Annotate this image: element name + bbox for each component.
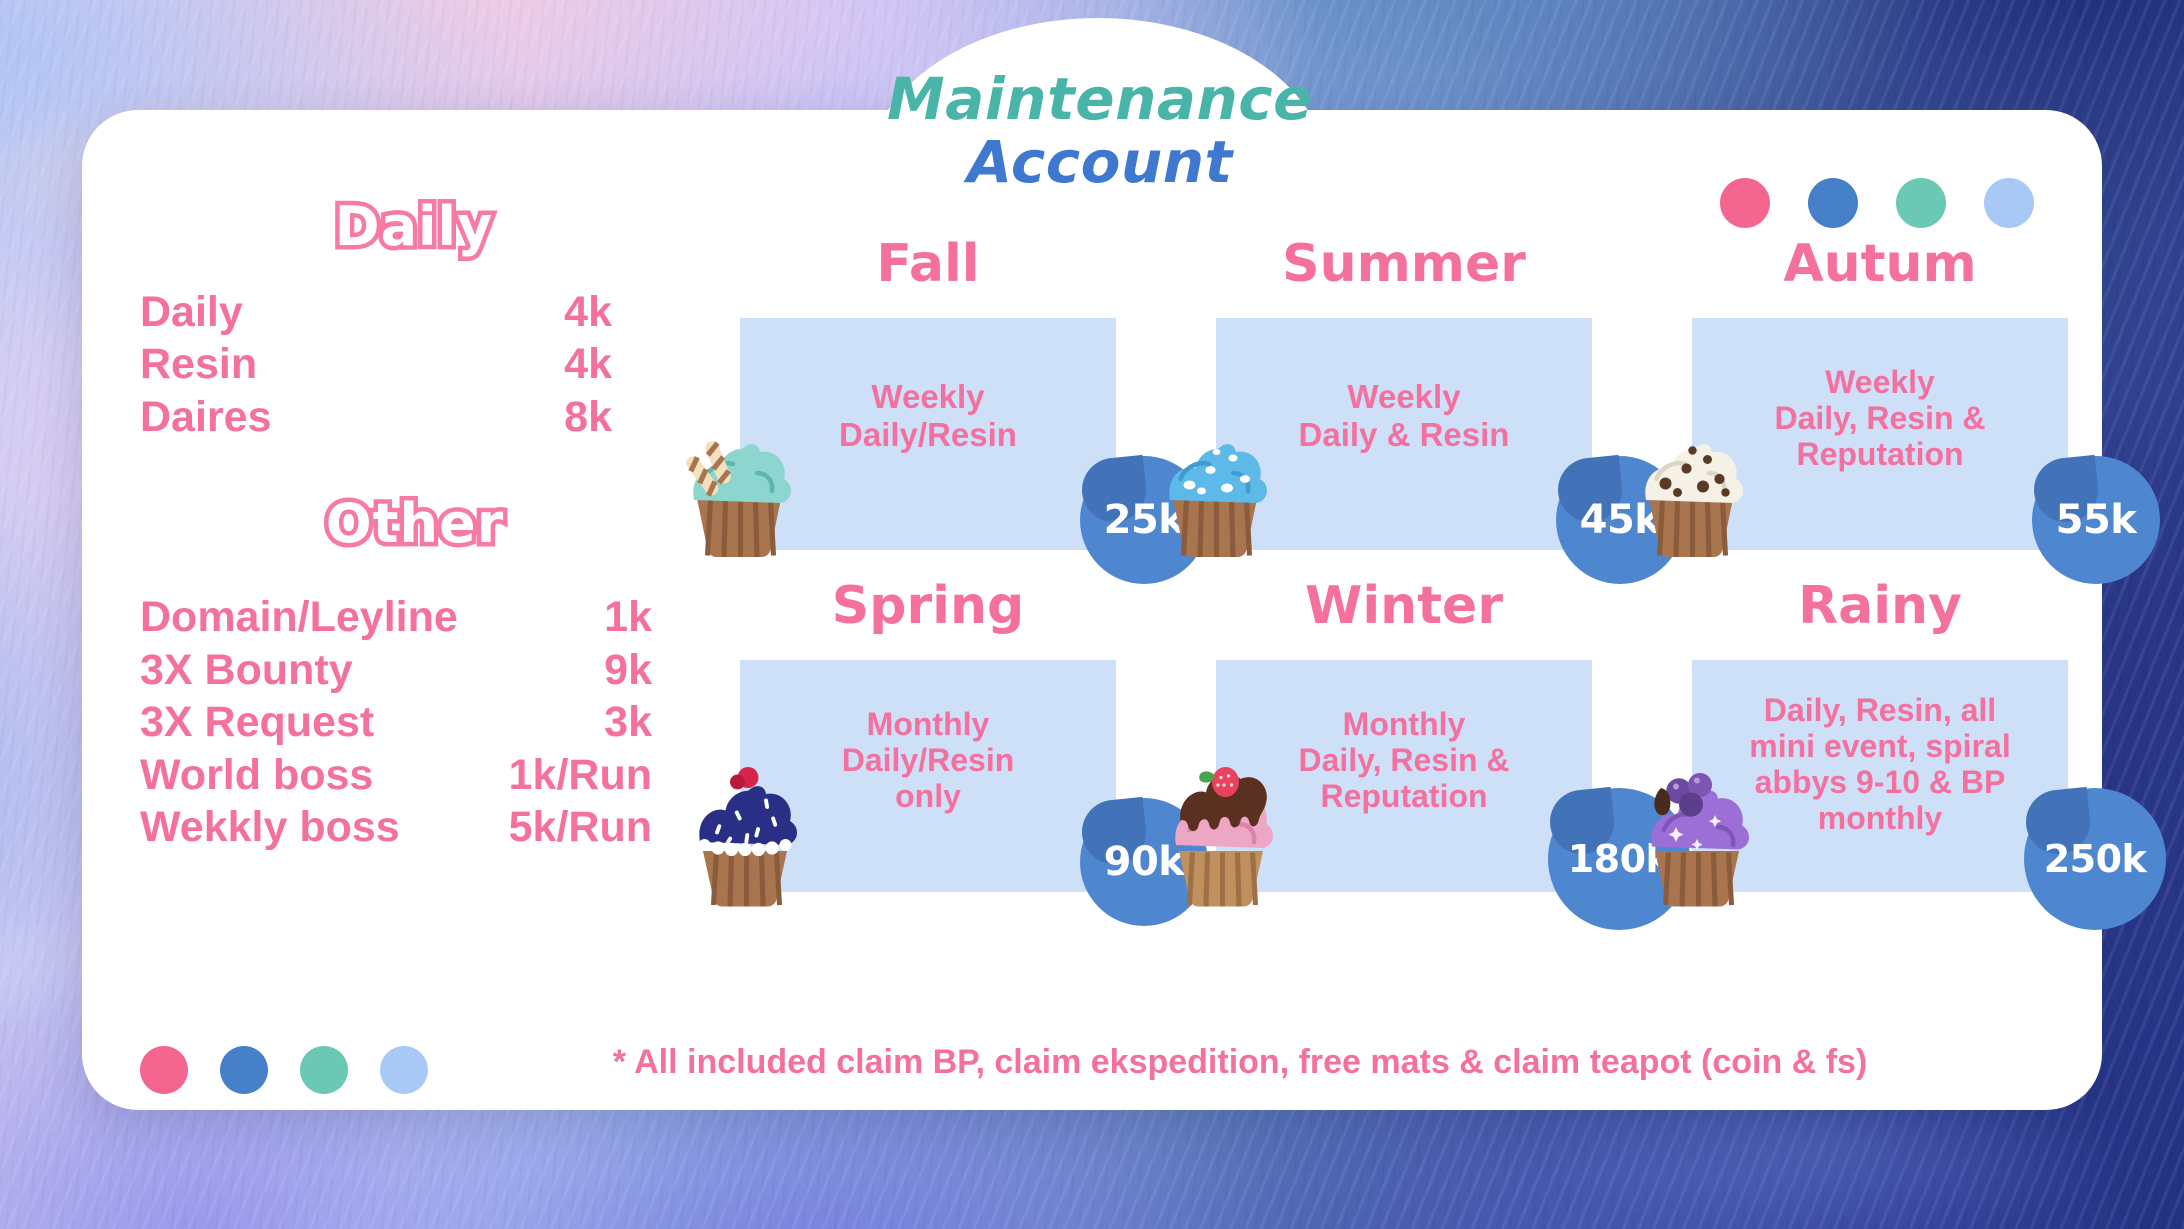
footer-note: * All included claim BP, claim ekspediti… [500,1042,1980,1083]
list-item: 3X Request 3k [140,696,670,748]
other-row-label: World boss [140,749,373,801]
decorative-dots-bottom-left [140,1046,428,1094]
season-card-summer: Summer Weekly Daily & Resin [1176,300,1632,550]
season-title: Summer [1176,238,1632,290]
daily-row-label: Daily [140,286,243,338]
page-title: Maintenance Account [790,70,1410,196]
dot-blue [220,1046,268,1094]
list-item: Domain/Leyline 1k [140,591,670,643]
mint-wafer-cupcake-icon [664,413,814,568]
season-title: Autum [1652,238,2108,290]
other-row-label: Domain/Leyline [140,591,458,643]
list-item: Daily 4k [140,286,670,338]
other-row-label: 3X Request [140,696,374,748]
dot-pink [140,1046,188,1094]
other-list: Domain/Leyline 1k 3X Bounty 9k 3X Reques… [140,591,670,853]
dot-light-blue [380,1046,428,1094]
badge-amount: 250k [2024,788,2166,930]
cream-chocolate-chip-cupcake-icon [1616,413,1766,568]
blue-sprinkle-cupcake-icon [1140,413,1290,568]
list-item: Daires 8k [140,391,670,443]
navy-berry-cupcake-icon [670,761,820,916]
daily-row-label: Daires [140,391,271,443]
other-row-label: Wekkly boss [140,801,400,853]
list-item: World boss 1k/Run [140,749,670,801]
pink-strawberry-chocolate-cupcake-icon [1146,761,1296,916]
other-row-value: 1k [502,591,652,643]
daily-list: Daily 4k Resin 4k Daires 8k [140,286,670,443]
other-row-value: 1k/Run [502,749,652,801]
season-amount-badge: 250k [2024,788,2166,930]
section-heading-daily: Daily [158,200,670,254]
dot-teal [300,1046,348,1094]
other-row-value: 9k [502,644,652,696]
decorative-dots-top-right [1720,178,2034,228]
other-row-value: 3k [502,696,652,748]
daily-row-value: 8k [526,391,612,443]
list-item: Resin 4k [140,338,670,390]
daily-row-label: Resin [140,338,257,390]
season-title: Winter [1176,580,1632,632]
other-row-value: 5k/Run [502,801,652,853]
title-line-maintenance: Maintenance [790,70,1410,129]
dot-light-blue [1984,178,2034,228]
daily-row-value: 4k [526,338,612,390]
season-card-autum: Autum Weekly Daily, Resin & Reputation [1652,300,2108,550]
season-title: Spring [700,580,1156,632]
daily-row-value: 4k [526,286,612,338]
other-row-label: 3X Bounty [140,644,353,696]
left-column: Daily Daily 4k Resin 4k Daires 8k Other … [140,200,670,854]
season-title: Rainy [1652,580,2108,632]
season-amount-badge: 55k [2032,456,2160,584]
list-item: Wekkly boss 5k/Run [140,801,670,853]
purple-blueberry-cupcake-icon [1622,761,1772,916]
dot-pink [1720,178,1770,228]
season-grid: Fall Weekly Daily/Resin [700,300,2128,892]
season-card-spring: Spring Monthly Daily/Resin only [700,642,1156,892]
season-card-fall: Fall Weekly Daily/Resin [700,300,1156,550]
season-card-winter: Winter Monthly Daily, Resin & Reputation [1176,642,1632,892]
list-item: 3X Bounty 9k [140,644,670,696]
section-heading-other: Other [160,497,670,551]
title-line-account: Account [790,129,1410,196]
dot-teal [1896,178,1946,228]
badge-amount: 55k [2032,456,2160,584]
season-title: Fall [700,238,1156,290]
season-card-rainy: Rainy Daily, Resin, all mini event, spir… [1652,642,2108,892]
dot-blue [1808,178,1858,228]
